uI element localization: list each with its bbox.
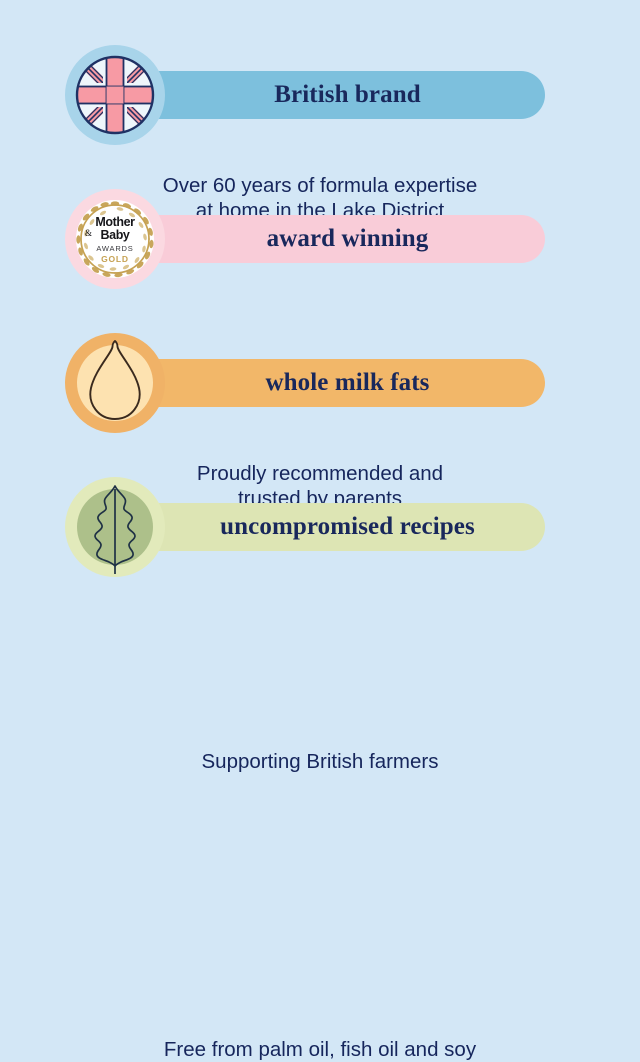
- mother-and-baby-gold-award-badge-icon: Mother & Baby AWARDS GOLD: [65, 189, 165, 289]
- badge-line-mother: Mother: [65, 216, 165, 229]
- feature-title-award-winning: award winning: [150, 215, 545, 263]
- feature-highlights-panel: British brand: [0, 0, 640, 640]
- badge-line-baby: Baby: [65, 229, 165, 242]
- feature-uncompromised-recipes: uncompromised recipes Free from palm oil…: [0, 477, 640, 577]
- leaf-glyph: [65, 477, 165, 577]
- feature-title-british-brand: British brand: [150, 71, 545, 119]
- feature-bar: whole milk fats: [0, 333, 640, 433]
- feature-subtitle-uncompromised-recipes: Free from palm oil, fish oil and soy: [0, 1037, 640, 1062]
- feature-british-brand: British brand: [0, 45, 640, 145]
- badge-text: Mother & Baby AWARDS GOLD: [65, 189, 165, 289]
- feature-whole-milk-fats: whole milk fats Supporting British farme…: [0, 333, 640, 433]
- feature-bar: award winning: [0, 189, 640, 289]
- badge-line-awards: AWARDS: [65, 245, 165, 253]
- feature-title-uncompromised-recipes: uncompromised recipes: [150, 503, 545, 551]
- feature-subtitle-whole-milk-fats: Supporting British farmers: [0, 749, 640, 774]
- union-jack-flag-icon: [65, 45, 165, 145]
- feature-title-whole-milk-fats: whole milk fats: [150, 359, 545, 407]
- milk-droplet-glyph: [65, 333, 165, 433]
- badge-line-gold: GOLD: [65, 255, 165, 264]
- union-jack-flag-glyph: [65, 45, 165, 145]
- milk-droplet-icon: [65, 333, 165, 433]
- feature-bar: British brand: [0, 45, 640, 145]
- feature-award-winning: award winning: [0, 189, 640, 289]
- feature-bar: uncompromised recipes: [0, 477, 640, 577]
- leaf-icon: [65, 477, 165, 577]
